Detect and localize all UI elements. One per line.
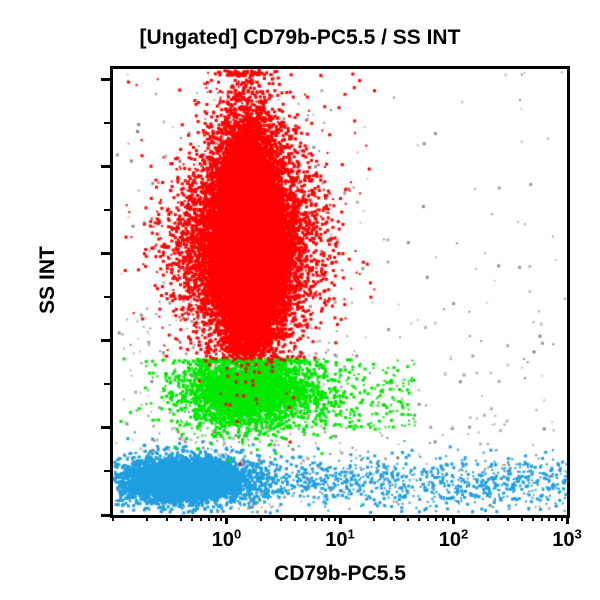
x-tick-label-mantissa: 10 [325, 529, 347, 551]
x-tick-label-exponent: 0 [234, 526, 241, 541]
x-tick-minor [435, 515, 437, 521]
plot-area[interactable] [110, 66, 570, 518]
x-tick-minor [280, 515, 282, 521]
x-tick-minor [407, 515, 409, 521]
x-tick-major [452, 515, 455, 524]
x-tick-label-exponent: 1 [348, 526, 355, 541]
x-tick-minor [442, 515, 444, 521]
x-tick-minor [208, 515, 210, 521]
x-tick-minor [541, 515, 543, 521]
x-tick-minor [191, 515, 193, 521]
x-tick-major [225, 515, 228, 524]
x-tick-minor [215, 515, 217, 521]
y-tick-major [101, 426, 110, 429]
x-tick-label: 101 [300, 529, 380, 552]
scatter-plot-canvas [113, 69, 567, 515]
x-tick-label-exponent: 2 [461, 526, 468, 541]
x-tick-label-exponent: 3 [575, 526, 582, 541]
x-tick-minor [393, 515, 395, 521]
x-tick-label: 103 [527, 529, 600, 552]
x-tick-minor [555, 515, 557, 521]
y-tick-major [101, 78, 110, 81]
y-tick-minor [104, 383, 110, 385]
x-tick-label: 100 [187, 529, 267, 552]
y-tick-minor [104, 209, 110, 211]
x-tick-minor [321, 515, 323, 521]
flow-cytometry-plot-page: [Ungated] CD79b-PC5.5 / SS INT 020040060… [0, 0, 600, 600]
x-tick-minor [294, 515, 296, 521]
x-tick-label-mantissa: 10 [212, 529, 234, 551]
x-tick-minor [418, 515, 420, 521]
x-tick-minor [180, 515, 182, 521]
x-tick-minor [200, 515, 202, 521]
x-tick-minor [260, 515, 262, 521]
y-tick-minor [104, 470, 110, 472]
x-tick-label-mantissa: 10 [552, 529, 574, 551]
x-tick-minor [373, 515, 375, 521]
x-tick-minor [521, 515, 523, 521]
x-tick-minor [314, 515, 316, 521]
y-tick-major [101, 514, 110, 517]
x-tick-minor [507, 515, 509, 521]
x-tick-minor [561, 515, 563, 521]
x-tick-minor [220, 515, 222, 521]
y-tick-major [101, 339, 110, 342]
x-tick-label-mantissa: 10 [439, 529, 461, 551]
x-tick-minor [146, 515, 148, 521]
x-tick-minor [328, 515, 330, 521]
x-tick-minor [447, 515, 449, 521]
x-axis-title: CD79b-PC5.5 [110, 562, 570, 586]
y-axis-title: SS INT [36, 220, 60, 340]
x-tick-minor [334, 515, 336, 521]
x-tick-minor [427, 515, 429, 521]
x-tick-minor [532, 515, 534, 521]
y-tick-minor [104, 122, 110, 124]
x-tick-minor [166, 515, 168, 521]
x-tick-minor [112, 515, 114, 521]
x-tick-major [339, 515, 342, 524]
y-tick-major [101, 252, 110, 255]
x-tick-label: 102 [414, 529, 494, 552]
x-tick-minor [305, 515, 307, 521]
y-tick-major [101, 165, 110, 168]
page-title: [Ungated] CD79b-PC5.5 / SS INT [0, 26, 600, 50]
x-tick-minor [548, 515, 550, 521]
x-tick-major [566, 515, 569, 524]
x-tick-minor [487, 515, 489, 521]
y-tick-minor [104, 296, 110, 298]
